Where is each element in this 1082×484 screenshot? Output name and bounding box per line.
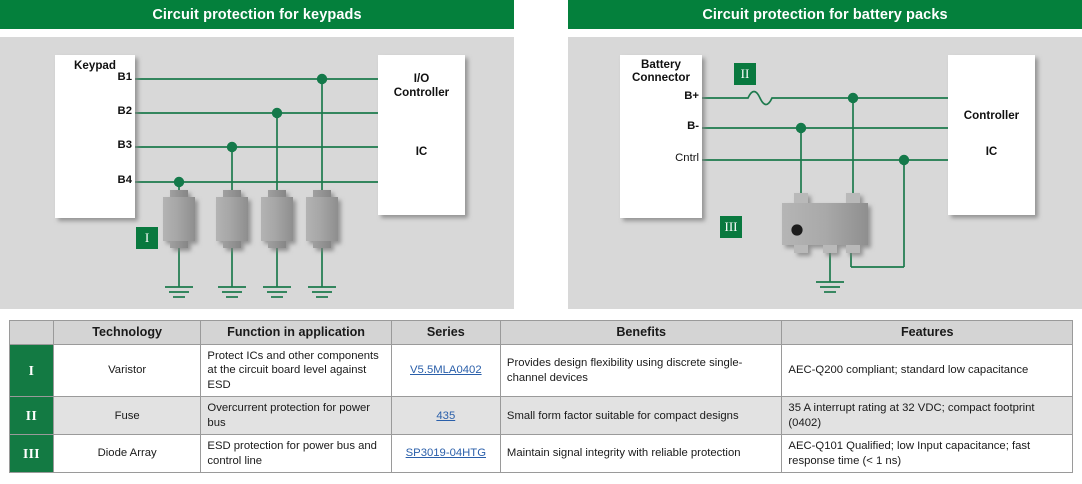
varistor-2: [216, 190, 248, 248]
varistor-3: [261, 190, 293, 248]
row-technology: Fuse: [53, 397, 201, 435]
panel-header-battery: Circuit protection for battery packs: [568, 0, 1082, 29]
protection-spec-table: Technology Function in application Serie…: [9, 320, 1073, 473]
ground-4: [308, 287, 336, 297]
row-id-badge: II: [10, 397, 54, 435]
series-link[interactable]: V5.5MLA0402: [410, 364, 482, 376]
row-series[interactable]: SP3019-04HTG: [391, 435, 500, 473]
junction-b3: [227, 142, 237, 152]
header-benefits: Benefits: [500, 321, 782, 345]
row-id-badge: I: [10, 345, 54, 397]
battery-connector-labels: Battery Connector B+ B- Cntrl: [620, 55, 702, 218]
junction-dots: [174, 74, 327, 187]
wire-group: [135, 79, 378, 287]
badge-varistor-I-text: I: [145, 230, 149, 246]
ground-2: [218, 287, 246, 297]
header-function: Function in application: [201, 321, 391, 345]
pin-label-b4: B4: [118, 174, 132, 186]
table-header-row: Technology Function in application Serie…: [10, 321, 1073, 345]
row-function: Overcurrent protection for power bus: [201, 397, 391, 435]
junction-bminus: [796, 123, 806, 133]
header-features: Features: [782, 321, 1073, 345]
diagram-keypad-protection: Keypad B1 B2 B3 B4 I/O Controller IC I: [0, 37, 514, 309]
wire-bplus-with-fuse: [702, 92, 948, 105]
panel-title-battery: Circuit protection for battery packs: [702, 7, 947, 23]
row-technology: Varistor: [53, 345, 201, 397]
infographic-root: Circuit protection for keypads: [0, 0, 1082, 484]
table-row: III Diode Array ESD protection for power…: [10, 435, 1073, 473]
varistor-1: [163, 190, 195, 248]
controller-ic-label: IC: [948, 145, 1035, 158]
wire-group: [702, 92, 948, 283]
polarity-dot: [791, 224, 802, 235]
io-controller-line1: I/O: [378, 72, 465, 85]
pin-label-b3: B3: [118, 139, 132, 151]
io-controller-labels: I/O Controller IC: [378, 55, 465, 215]
badge-fuse-II-text: II: [741, 66, 750, 82]
ground-1: [165, 287, 193, 297]
row-benefits: Provides design flexibility using discre…: [500, 345, 782, 397]
row-features: AEC-Q200 compliant; standard low capacit…: [782, 345, 1073, 397]
table-row: I Varistor Protect ICs and other compone…: [10, 345, 1073, 397]
diode-array-package: [782, 193, 868, 253]
junction-b4: [174, 177, 184, 187]
row-function: Protect ICs and other components at the …: [201, 345, 391, 397]
badge-diode-array-III: III: [720, 216, 742, 238]
junction-b1: [317, 74, 327, 84]
keypad-block-labels: Keypad B1 B2 B3 B4: [55, 55, 135, 218]
ground-symbols: [165, 287, 336, 297]
io-controller-line2: Controller: [378, 86, 465, 99]
varistor-4: [306, 190, 338, 248]
io-controller-ic-label: IC: [378, 145, 465, 158]
battery-connector-line2: Connector: [620, 71, 702, 84]
pin-label-cntrl: Cntrl: [675, 152, 699, 164]
controller-labels: Controller IC: [948, 55, 1035, 215]
badge-fuse-II: II: [734, 63, 756, 85]
panel-header-keypads: Circuit protection for keypads: [0, 0, 514, 29]
varistor-components: [163, 190, 338, 248]
junction-bplus: [848, 93, 858, 103]
row-series[interactable]: 435: [391, 397, 500, 435]
row-series[interactable]: V5.5MLA0402: [391, 345, 500, 397]
header-id: [10, 321, 54, 345]
row-benefits: Small form factor suitable for compact d…: [500, 397, 782, 435]
table-row: II Fuse Overcurrent protection for power…: [10, 397, 1073, 435]
row-function: ESD protection for power bus and control…: [201, 435, 391, 473]
series-link[interactable]: SP3019-04HTG: [406, 447, 486, 459]
diagram-battery-protection: Battery Connector B+ B- Cntrl Controller…: [568, 37, 1082, 309]
package-body: [782, 203, 868, 245]
series-link[interactable]: 435: [436, 410, 455, 422]
badge-varistor-I: I: [136, 227, 158, 249]
pin-label-bminus: B-: [687, 120, 699, 132]
ground-symbol: [816, 282, 844, 292]
ground-3: [263, 287, 291, 297]
badge-diode-array-III-text: III: [725, 219, 738, 235]
pin-label-bplus: B+: [684, 90, 699, 102]
junction-b2: [272, 108, 282, 118]
header-technology: Technology: [53, 321, 201, 345]
panel-title-keypads: Circuit protection for keypads: [152, 7, 361, 23]
row-features: AEC-Q101 Qualified; low Input capacitanc…: [782, 435, 1073, 473]
pin-label-b1: B1: [118, 71, 132, 83]
pin-label-b2: B2: [118, 105, 132, 117]
header-series: Series: [391, 321, 500, 345]
battery-connector-line1: Battery: [620, 58, 702, 71]
junction-cntrl: [899, 155, 909, 165]
row-technology: Diode Array: [53, 435, 201, 473]
row-features: 35 A interrupt rating at 32 VDC; compact…: [782, 397, 1073, 435]
controller-line1: Controller: [948, 109, 1035, 122]
row-id-badge: III: [10, 435, 54, 473]
row-benefits: Maintain signal integrity with reliable …: [500, 435, 782, 473]
